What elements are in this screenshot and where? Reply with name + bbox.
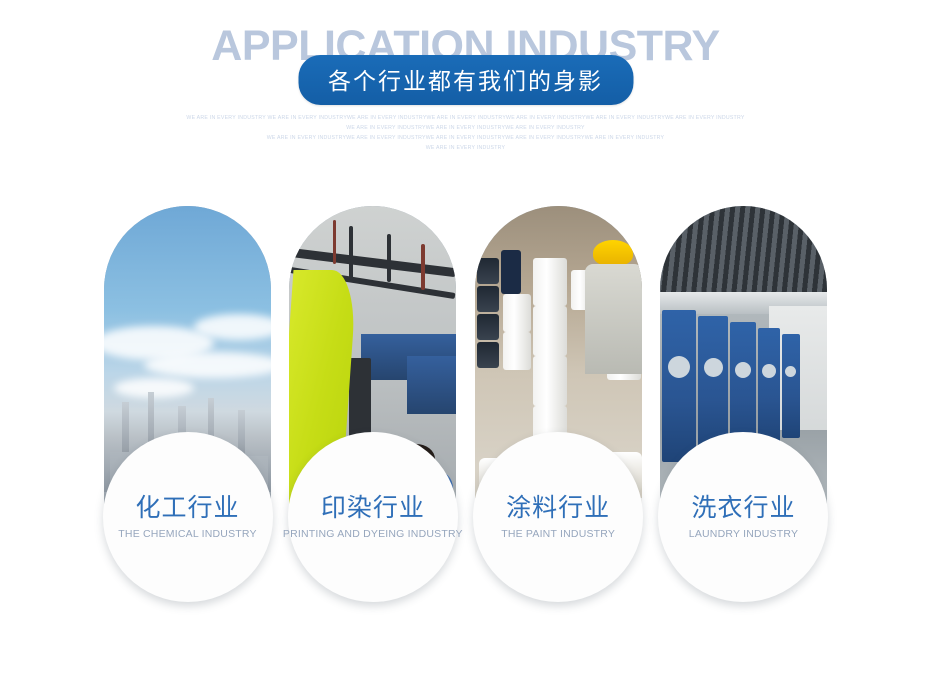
card-label-cn: 涂料行业: [506, 494, 610, 522]
card-label-cn: 化工行业: [135, 494, 239, 522]
card-label-en: LAUNDRY INDUSTRY: [689, 528, 798, 540]
application-industry-page: APPLICATION INDUSTRY 各个行业都有我们的身影 WE ARE …: [0, 0, 931, 676]
card-label-en: THE CHEMICAL INDUSTRY: [118, 528, 256, 540]
ticker-line: WE ARE IN EVERY INDUSTRYWE ARE IN EVERY …: [0, 133, 931, 143]
ticker-line: WE ARE IN EVERY INDUSTRY WE ARE IN EVERY…: [0, 113, 931, 123]
ticker-line: WE ARE IN EVERY INDUSTRYWE ARE IN EVERY …: [0, 123, 931, 133]
card-label-en: THE PAINT INDUSTRY: [501, 528, 615, 540]
industry-card-list: 化工行业 THE CHEMICAL INDUSTRY: [104, 206, 827, 606]
card-label-cn: 印染行业: [321, 494, 425, 522]
subtitle-badge: 各个行业都有我们的身影: [298, 55, 633, 105]
industry-card-printing-dyeing[interactable]: 印染行业 PRINTING AND DYEING INDUSTRY: [289, 206, 456, 580]
industry-card-laundry[interactable]: 洗衣行业 LAUNDRY INDUSTRY: [660, 206, 827, 580]
ticker-text-block: WE ARE IN EVERY INDUSTRY WE ARE IN EVERY…: [0, 113, 931, 153]
card-label-circle: 化工行业 THE CHEMICAL INDUSTRY: [103, 432, 273, 602]
card-label-circle: 洗衣行业 LAUNDRY INDUSTRY: [658, 432, 828, 602]
page-header: APPLICATION INDUSTRY 各个行业都有我们的身影 WE ARE …: [0, 0, 931, 170]
card-label-circle: 印染行业 PRINTING AND DYEING INDUSTRY: [288, 432, 458, 602]
card-label-en: PRINTING AND DYEING INDUSTRY: [283, 528, 463, 540]
card-label-circle: 涂料行业 THE PAINT INDUSTRY: [473, 432, 643, 602]
industry-card-paint[interactable]: 涂料行业 THE PAINT INDUSTRY: [475, 206, 642, 580]
industry-card-chemical[interactable]: 化工行业 THE CHEMICAL INDUSTRY: [104, 206, 271, 580]
ticker-line: WE ARE IN EVERY INDUSTRY: [0, 143, 931, 153]
card-label-cn: 洗衣行业: [691, 494, 795, 522]
